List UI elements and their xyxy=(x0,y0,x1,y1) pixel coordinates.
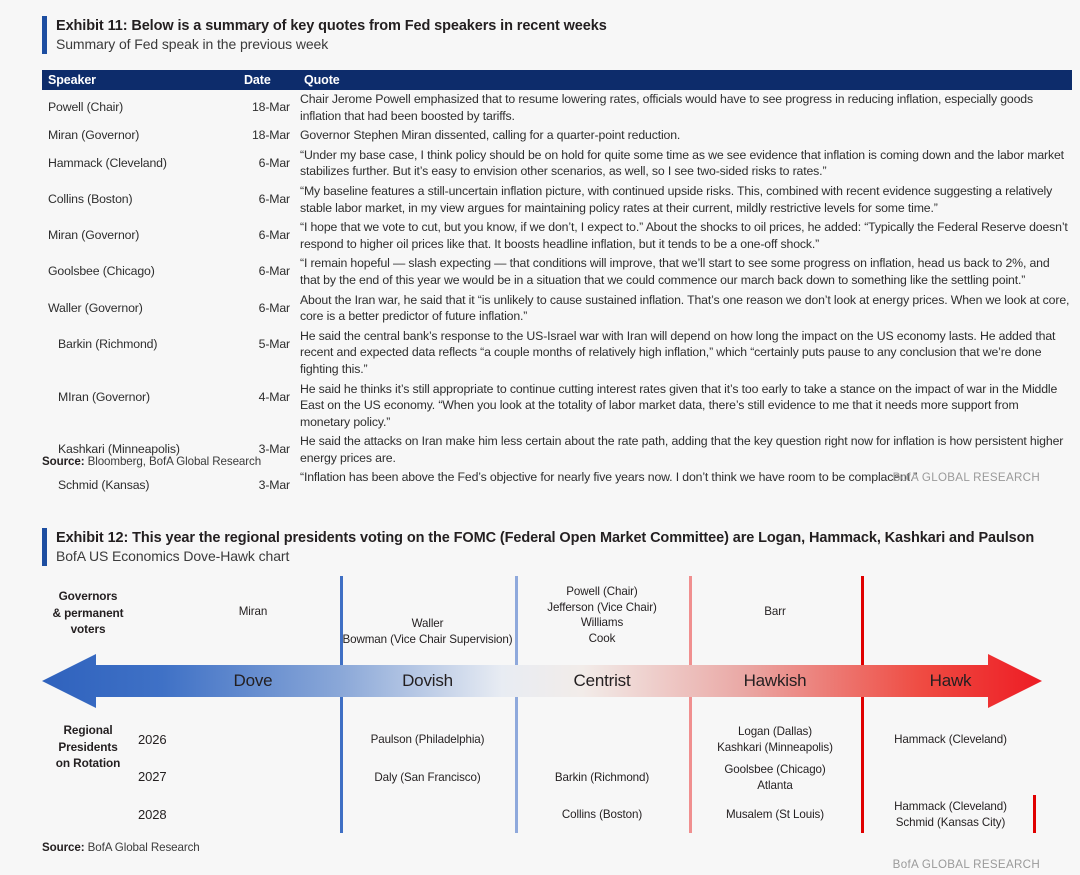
person-name: Kashkari (Minneapolis) xyxy=(691,740,859,756)
table-row: Collins (Boston)6-Mar“My baseline featur… xyxy=(42,182,1072,218)
person-name: Paulson (Philadelphia) xyxy=(342,732,513,748)
row-label-line: & permanent xyxy=(42,605,134,622)
year-label-2026: 2026 xyxy=(138,732,167,747)
exhibit-11-subtitle: Summary of Fed speak in the previous wee… xyxy=(56,35,607,54)
row-label-line: Presidents xyxy=(42,739,134,756)
person-name: Barkin (Richmond) xyxy=(517,770,687,786)
person-name: Cook xyxy=(517,631,687,647)
column-header-speaker: Speaker xyxy=(42,70,240,90)
table-header-row: Speaker Date Quote xyxy=(42,70,1072,90)
table-row: Waller (Governor)6-MarAbout the Iran war… xyxy=(42,291,1072,327)
dove-hawk-arrow: Dove Dovish Centrist Hawkish Hawk xyxy=(42,654,1042,708)
governors-cell-hawkish: Barr xyxy=(691,604,859,620)
rotation-2028-hawk: Hammack (Cleveland)Schmid (Kansas City) xyxy=(863,799,1038,830)
cell-speaker: Powell (Chair) xyxy=(42,90,240,126)
column-header-date: Date xyxy=(240,70,296,90)
person-name: Williams xyxy=(517,615,687,631)
fed-quotes-table: Speaker Date Quote Powell (Chair)18-MarC… xyxy=(42,70,1072,496)
person-name: Goolsbee (Chicago) xyxy=(691,762,859,778)
source-text: Bloomberg, BofA Global Research xyxy=(84,455,261,468)
rotation-2027-centrist: Barkin (Richmond) xyxy=(517,770,687,786)
exhibit-12-subtitle: BofA US Economics Dove-Hawk chart xyxy=(56,547,1034,566)
person-name: Logan (Dallas) xyxy=(691,724,859,740)
person-name: Musalem (St Louis) xyxy=(691,807,859,823)
band-label-centrist: Centrist xyxy=(517,671,687,691)
person-name: Hammack (Cleveland) xyxy=(863,732,1038,748)
band-label-dove: Dove xyxy=(168,671,338,691)
cell-quote: “I remain hopeful — slash expecting — th… xyxy=(296,254,1072,290)
cell-quote: Chair Jerome Powell emphasized that to r… xyxy=(296,90,1072,126)
person-name: Waller xyxy=(342,616,513,632)
cell-date: 4-Mar xyxy=(240,380,296,433)
cell-speaker: MIran (Governor) xyxy=(42,380,240,433)
exhibit-11-header: Exhibit 11: Below is a summary of key qu… xyxy=(42,16,607,54)
cell-quote: “My baseline features a still-uncertain … xyxy=(296,182,1072,218)
cell-date: 3-Mar xyxy=(240,468,296,496)
table-row: Powell (Chair)18-MarChair Jerome Powell … xyxy=(42,90,1072,126)
rotation-2026-hawk: Hammack (Cleveland) xyxy=(863,732,1038,748)
source-label: Source: xyxy=(42,841,84,854)
rotation-2028-hawkish: Musalem (St Louis) xyxy=(691,807,859,823)
rotation-2027-dovish: Daly (San Francisco) xyxy=(342,770,513,786)
cell-date: 18-Mar xyxy=(240,126,296,146)
table-row: Miran (Governor)18-MarGovernor Stephen M… xyxy=(42,126,1072,146)
person-name: Jefferson (Vice Chair) xyxy=(517,600,687,616)
cell-date: 5-Mar xyxy=(240,327,296,380)
cell-speaker: Collins (Boston) xyxy=(42,182,240,218)
cell-quote: He said the central bank’s response to t… xyxy=(296,327,1072,380)
cell-quote: He said he thinks it’s still appropriate… xyxy=(296,380,1072,433)
table-row: MIran (Governor)4-MarHe said he thinks i… xyxy=(42,380,1072,433)
row-label-line: on Rotation xyxy=(42,755,134,772)
table-row: Miran (Governor)6-Mar“I hope that we vot… xyxy=(42,218,1072,254)
exhibit-11-footer: BofA GLOBAL RESEARCH xyxy=(893,471,1040,484)
rotation-2026-dovish: Paulson (Philadelphia) xyxy=(342,732,513,748)
exhibit-12-title: Exhibit 12: This year the regional presi… xyxy=(56,529,1034,547)
cell-quote: “I hope that we vote to cut, but you kno… xyxy=(296,218,1072,254)
exhibit-12-header: Exhibit 12: This year the regional presi… xyxy=(42,528,1034,566)
person-name: Powell (Chair) xyxy=(517,584,687,600)
cell-date: 6-Mar xyxy=(240,218,296,254)
cell-quote: Governor Stephen Miran dissented, callin… xyxy=(296,126,1072,146)
row-label-governors: Governors & permanent voters xyxy=(42,588,134,638)
cell-date: 6-Mar xyxy=(240,146,296,182)
cell-quote: “Under my base case, I think policy shou… xyxy=(296,146,1072,182)
person-name: Daly (San Francisco) xyxy=(342,770,513,786)
cell-quote: About the Iran war, he said that it “is … xyxy=(296,291,1072,327)
person-name: Miran xyxy=(168,604,338,620)
cell-speaker: Miran (Governor) xyxy=(42,126,240,146)
accent-bar xyxy=(42,16,47,54)
year-label-2028: 2028 xyxy=(138,807,167,822)
cell-date: 6-Mar xyxy=(240,182,296,218)
band-label-hawkish: Hawkish xyxy=(691,671,859,691)
row-label-line: voters xyxy=(42,621,134,638)
exhibit-12-footer: BofA GLOBAL RESEARCH xyxy=(893,858,1040,871)
cell-speaker: Goolsbee (Chicago) xyxy=(42,254,240,290)
rotation-2028-centrist: Collins (Boston) xyxy=(517,807,687,823)
cell-speaker: Waller (Governor) xyxy=(42,291,240,327)
cell-speaker: Barkin (Richmond) xyxy=(42,327,240,380)
exhibit-11-source: Source: Bloomberg, BofA Global Research xyxy=(42,455,261,468)
table-row: Barkin (Richmond)5-MarHe said the centra… xyxy=(42,327,1072,380)
cell-date: 18-Mar xyxy=(240,90,296,126)
source-label: Source: xyxy=(42,455,84,468)
column-header-quote: Quote xyxy=(296,70,1072,90)
person-name: Hammack (Cleveland) xyxy=(863,799,1038,815)
year-label-2027: 2027 xyxy=(138,769,167,784)
exhibit-11-title: Exhibit 11: Below is a summary of key qu… xyxy=(56,17,607,35)
person-name: Barr xyxy=(691,604,859,620)
row-label-line: Regional xyxy=(42,722,134,739)
row-label-regional-presidents: Regional Presidents on Rotation xyxy=(42,722,134,772)
row-label-line: Governors xyxy=(42,588,134,605)
table-header: Speaker Date Quote xyxy=(42,70,1072,90)
rotation-2027-hawkish: Goolsbee (Chicago)Atlanta xyxy=(691,762,859,793)
person-name: Atlanta xyxy=(691,778,859,794)
person-name: Collins (Boston) xyxy=(517,807,687,823)
person-name: Schmid (Kansas City) xyxy=(863,815,1038,831)
cell-speaker: Schmid (Kansas) xyxy=(42,468,240,496)
dove-hawk-chart: Governors & permanent voters Regional Pr… xyxy=(42,576,1042,836)
governors-cell-dove: Miran xyxy=(168,604,338,620)
person-name: Bowman (Vice Chair Supervision) xyxy=(342,632,513,648)
rotation-2026-hawkish: Logan (Dallas)Kashkari (Minneapolis) xyxy=(691,724,859,755)
cell-quote: He said the attacks on Iran make him les… xyxy=(296,432,1072,468)
accent-bar xyxy=(42,528,47,566)
band-label-hawk: Hawk xyxy=(863,671,1038,691)
exhibit-12-source: Source: BofA Global Research xyxy=(42,841,200,854)
band-label-dovish: Dovish xyxy=(342,671,513,691)
table-row: Hammack (Cleveland)6-Mar“Under my base c… xyxy=(42,146,1072,182)
table-row: Goolsbee (Chicago)6-Mar“I remain hopeful… xyxy=(42,254,1072,290)
governors-cell-centrist: Powell (Chair)Jefferson (Vice Chair)Will… xyxy=(517,584,687,646)
governors-cell-dovish: WallerBowman (Vice Chair Supervision) xyxy=(342,616,513,647)
table-body: Powell (Chair)18-MarChair Jerome Powell … xyxy=(42,90,1072,496)
cell-date: 6-Mar xyxy=(240,291,296,327)
cell-speaker: Miran (Governor) xyxy=(42,218,240,254)
cell-date: 6-Mar xyxy=(240,254,296,290)
cell-speaker: Hammack (Cleveland) xyxy=(42,146,240,182)
source-text: BofA Global Research xyxy=(84,841,199,854)
